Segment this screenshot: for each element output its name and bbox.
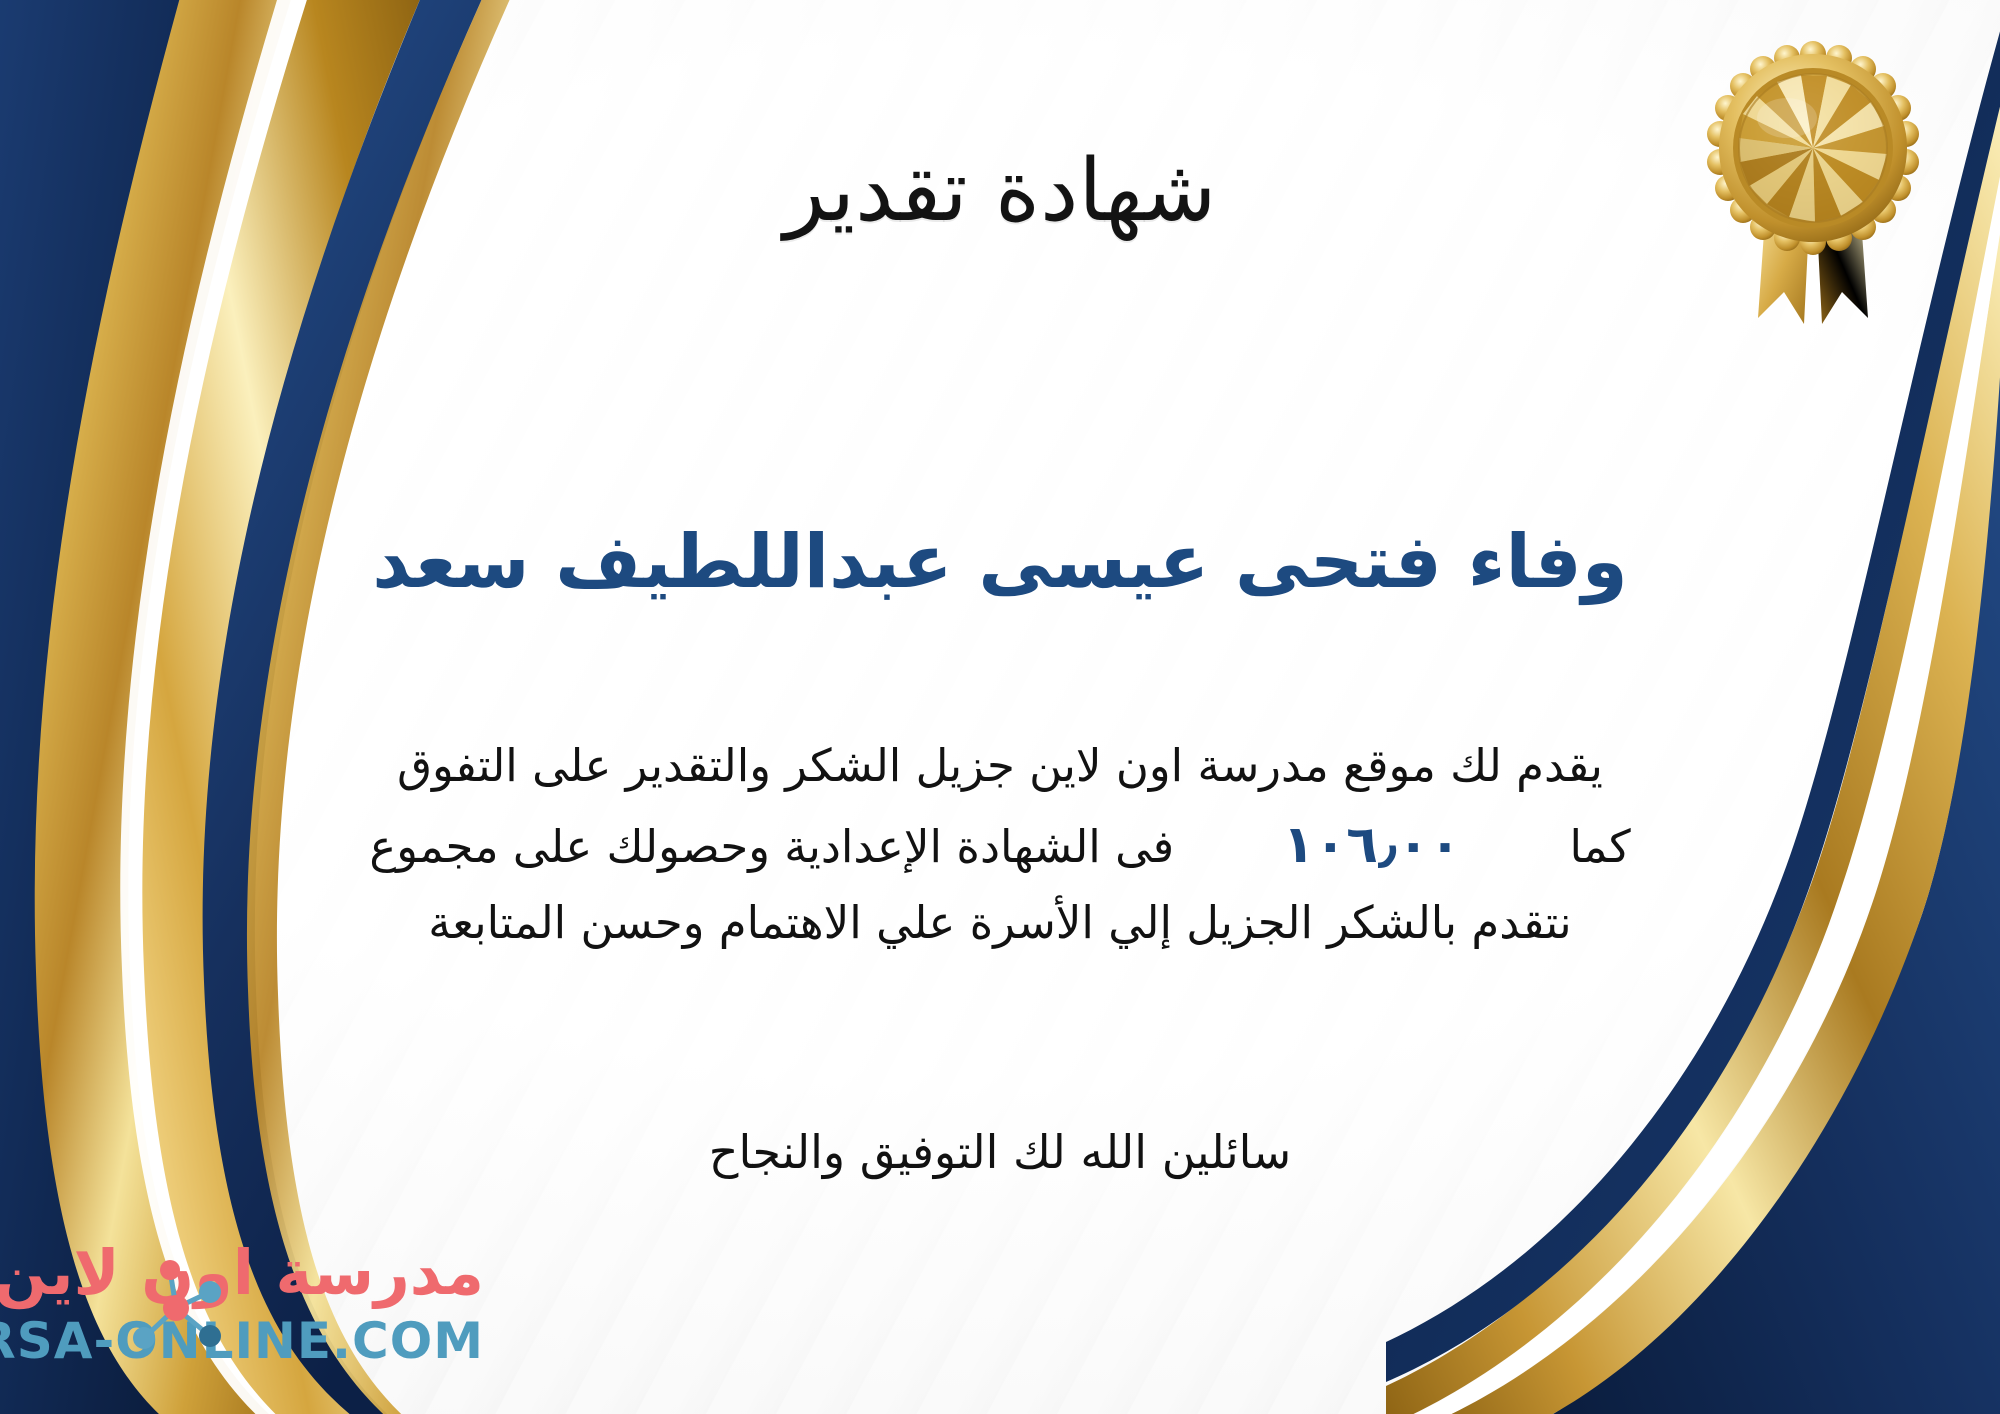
body-line-2-suffix: فى الشهادة الإعدادية وحصولك على مجموع [369,820,1174,873]
brand-arabic-name: مدرسة اون لاين [0,1236,484,1309]
certificate-title: شهادة تقدير [0,146,2000,236]
certificate-body: يقدم لك موقع مدرسة اون لاين جزيل الشكر و… [90,730,1910,960]
body-line-2-prefix: كما [1570,820,1631,873]
certificate-content: شهادة تقدير وفاء فتحى عيسى عبداللطيف سعد… [0,0,2000,1414]
certificate-page: شهادة تقدير وفاء فتحى عيسى عبداللطيف سعد… [0,0,2000,1414]
closing-line: سائلين الله لك التوفيق والنجاح [0,1125,2000,1179]
brand-website: MADRSA-ONLINE.COM [0,1312,484,1370]
body-line-1: يقدم لك موقع مدرسة اون لاين جزيل الشكر و… [90,730,1910,803]
score-value: ١٠٦٫٠٠ [1257,815,1487,875]
network-nodes-icon [114,1252,234,1372]
brand-logo[interactable]: مدرسة اون لاين MADRSA-ONLINE.COM [28,1238,548,1388]
student-name: وفاء فتحى عيسى عبداللطيف سعد [0,520,2000,605]
body-line-2: كما ١٠٦٫٠٠ فى الشهادة الإعدادية وحصولك ع… [90,803,1910,887]
body-line-3: نتقدم بالشكر الجزيل إلي الأسرة علي الاهت… [90,887,1910,960]
